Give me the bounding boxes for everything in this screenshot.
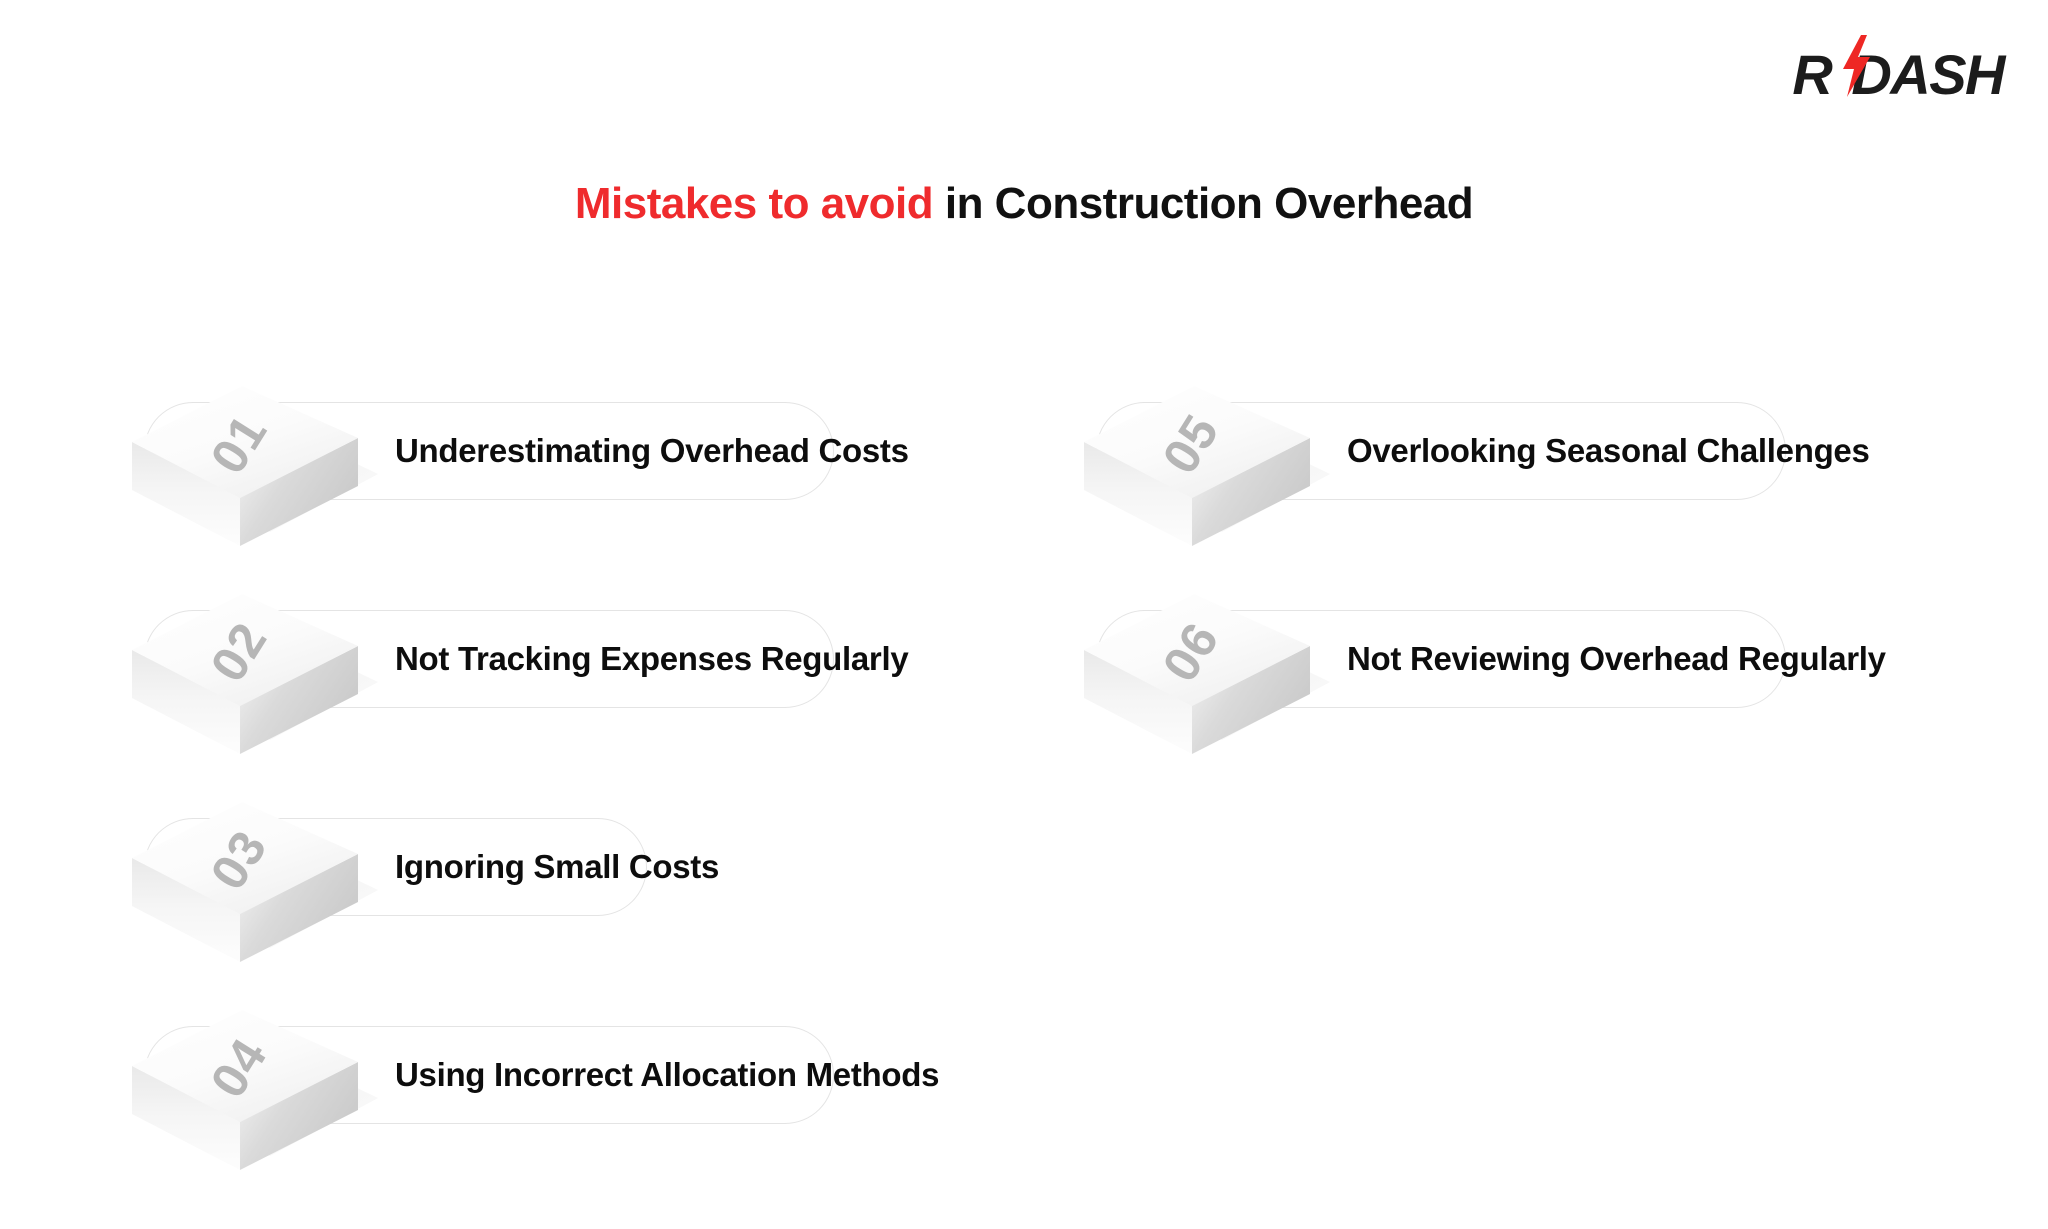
brand-logo-dash: DASH bbox=[1851, 43, 2004, 106]
mistake-pill-04[interactable]: Using Incorrect Allocation Methods bbox=[144, 1026, 834, 1124]
brand-logo-text: RDASH bbox=[1792, 47, 2004, 103]
mistake-label-06: Not Reviewing Overhead Regularly bbox=[1347, 640, 1886, 678]
mistake-label-05: Overlooking Seasonal Challenges bbox=[1347, 432, 1870, 470]
mistake-pill-06[interactable]: Not Reviewing Overhead Regularly bbox=[1096, 610, 1786, 708]
mistakes-list: Underestimating Overhead Costs bbox=[0, 0, 2048, 1229]
brand-logo: RDASH bbox=[1792, 40, 2004, 110]
brand-logo-r: R bbox=[1792, 43, 1831, 106]
mistake-pill-05[interactable]: Overlooking Seasonal Challenges bbox=[1096, 402, 1786, 500]
mistake-label-04: Using Incorrect Allocation Methods bbox=[395, 1056, 939, 1094]
mistake-label-03: Ignoring Small Costs bbox=[395, 848, 719, 886]
mistake-pill-02[interactable]: Not Tracking Expenses Regularly bbox=[144, 610, 834, 708]
mistake-pill-01[interactable]: Underestimating Overhead Costs bbox=[144, 402, 834, 500]
mistake-label-01: Underestimating Overhead Costs bbox=[395, 432, 909, 470]
mistake-label-02: Not Tracking Expenses Regularly bbox=[395, 640, 908, 678]
mistake-pill-03[interactable]: Ignoring Small Costs bbox=[144, 818, 647, 916]
